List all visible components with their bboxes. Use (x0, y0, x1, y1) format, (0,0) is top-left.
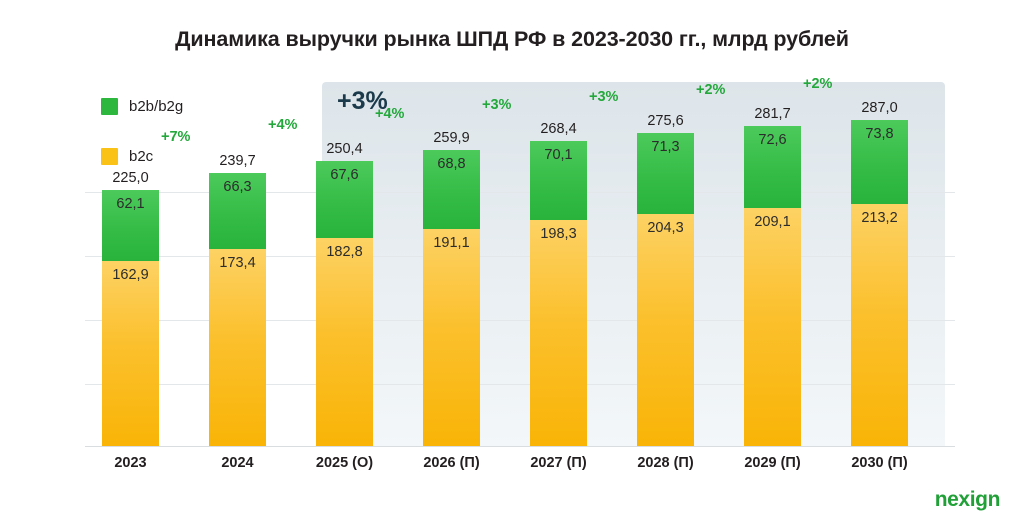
bar-group[interactable]: 275,671,3204,3 (637, 133, 694, 446)
growth-label: +4% (268, 117, 297, 133)
bar-segment-value: 209,1 (754, 214, 790, 230)
bar-segment-b2c[interactable]: 209,1 (744, 208, 801, 446)
x-axis-label: 2023 (71, 455, 191, 471)
bar-segment-b2b[interactable]: 68,8 (423, 150, 480, 228)
growth-label: +2% (696, 82, 725, 98)
bar-segment-b2c[interactable]: 182,8 (316, 238, 373, 446)
bar-group[interactable]: 239,766,3173,4 (209, 173, 266, 446)
x-axis-label: 2025 (О) (285, 455, 405, 471)
bar-segment-b2b[interactable]: 67,6 (316, 161, 373, 238)
bar-segment-b2c[interactable]: 162,9 (102, 261, 159, 446)
bar-segment-b2c[interactable]: 191,1 (423, 229, 480, 446)
bar-segment-b2b[interactable]: 72,6 (744, 126, 801, 209)
bar-segment-value: 70,1 (544, 147, 572, 163)
bar-segment-value: 73,8 (865, 126, 893, 142)
bar-segment-value: 71,3 (651, 139, 679, 155)
bar-segment-value: 66,3 (223, 179, 251, 195)
chart-container: Динамика выручки рынка ШПД РФ в 2023-203… (0, 0, 1024, 526)
bar-group[interactable]: 225,062,1162,9 (102, 190, 159, 446)
bar-segment-b2b[interactable]: 73,8 (851, 120, 908, 204)
bar-group[interactable]: 250,467,6182,8 (316, 161, 373, 446)
bar-segment-value: 182,8 (326, 244, 362, 260)
x-axis-label: 2028 (П) (606, 455, 726, 471)
x-axis-label: 2027 (П) (499, 455, 619, 471)
bar-segment-value: 198,3 (540, 226, 576, 242)
bar-segment-value: 213,2 (861, 210, 897, 226)
bar-segment-value: 191,1 (433, 235, 469, 251)
bar-segment-b2c[interactable]: 213,2 (851, 204, 908, 447)
bar-segment-b2b[interactable]: 70,1 (530, 141, 587, 221)
x-axis-label: 2026 (П) (392, 455, 512, 471)
growth-label: +3% (482, 97, 511, 113)
x-axis-label: 2030 (П) (820, 455, 940, 471)
x-axis-label: 2029 (П) (713, 455, 833, 471)
bar-total-label: 281,7 (724, 106, 821, 122)
bar-total-label: 259,9 (403, 130, 500, 146)
bar-total-label: 239,7 (189, 153, 286, 169)
bars-layer: 225,062,1162,92023239,766,3173,42024+7%2… (0, 0, 1024, 526)
bar-total-label: 250,4 (296, 141, 393, 157)
bar-segment-b2c[interactable]: 198,3 (530, 220, 587, 446)
bar-group[interactable]: 268,470,1198,3 (530, 141, 587, 446)
growth-label: +7% (161, 129, 190, 145)
bar-total-label: 225,0 (82, 170, 179, 186)
bar-total-label: 275,6 (617, 113, 714, 129)
bar-group[interactable]: 259,968,8191,1 (423, 150, 480, 446)
x-axis-label: 2024 (178, 455, 298, 471)
nexign-logo: nexign (935, 488, 1000, 512)
bar-segment-value: 72,6 (758, 132, 786, 148)
bar-segment-value: 204,3 (647, 220, 683, 236)
bar-segment-b2b[interactable]: 62,1 (102, 190, 159, 261)
bar-total-label: 268,4 (510, 121, 607, 137)
bar-segment-b2b[interactable]: 71,3 (637, 133, 694, 214)
bar-segment-value: 173,4 (219, 255, 255, 271)
bar-segment-b2c[interactable]: 204,3 (637, 214, 694, 446)
growth-label: +4% (375, 106, 404, 122)
bar-segment-b2c[interactable]: 173,4 (209, 249, 266, 446)
bar-group[interactable]: 281,772,6209,1 (744, 126, 801, 446)
bar-segment-b2b[interactable]: 66,3 (209, 173, 266, 248)
bar-segment-value: 68,8 (437, 156, 465, 172)
bar-total-label: 287,0 (831, 100, 928, 116)
growth-label: +3% (589, 89, 618, 105)
bar-segment-value: 162,9 (112, 267, 148, 283)
growth-label: +2% (803, 76, 832, 92)
bar-segment-value: 67,6 (330, 167, 358, 183)
bar-segment-value: 62,1 (116, 196, 144, 212)
bar-group[interactable]: 287,073,8213,2 (851, 120, 908, 446)
